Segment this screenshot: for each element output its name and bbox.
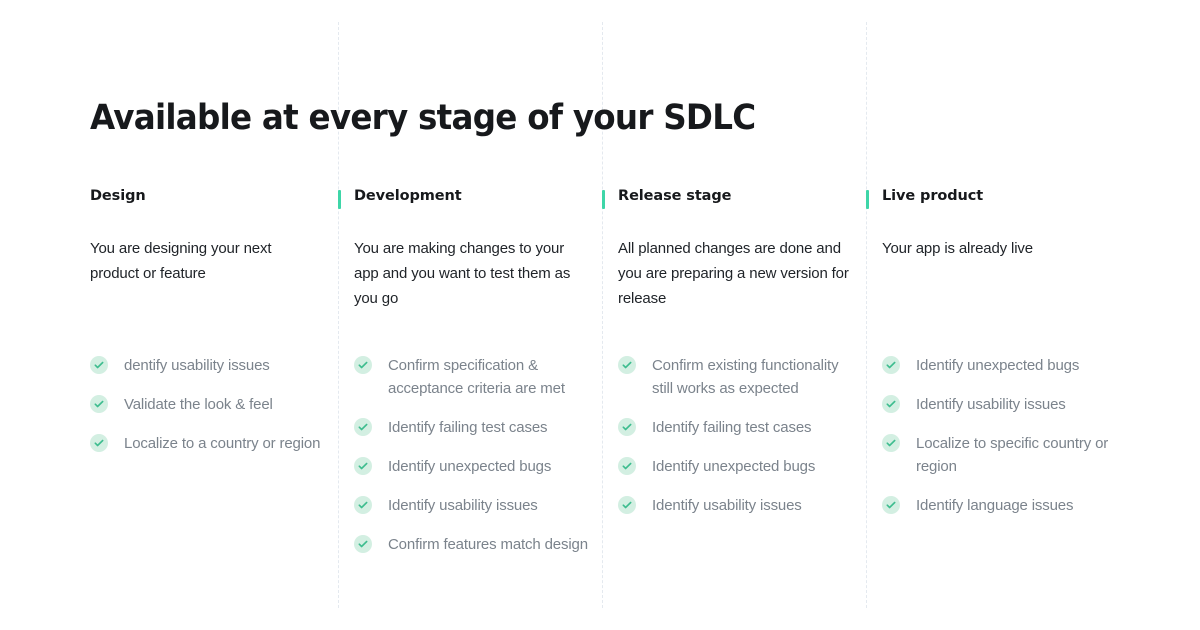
list-item-label: Identify usability issues bbox=[652, 497, 802, 514]
check-circle-icon bbox=[618, 356, 636, 374]
stage-column-live-product: Live product Your app is already live Id… bbox=[882, 186, 1118, 206]
stage-column-heading: Release stage bbox=[618, 186, 854, 206]
stage-column-heading: Development bbox=[354, 186, 590, 206]
stage-column-heading: Design bbox=[90, 186, 326, 206]
check-circle-icon bbox=[354, 457, 372, 475]
stage-column-description: You are making changes to your app and y… bbox=[354, 236, 586, 311]
list-item-label: dentify usability issues bbox=[124, 357, 270, 374]
list-item: Identify language issues bbox=[882, 494, 1118, 517]
list-item: Validate the look & feel bbox=[90, 393, 326, 416]
slide-canvas: Available at every stage of your SDLC De… bbox=[0, 0, 1200, 630]
column-accent-bar bbox=[866, 190, 869, 209]
list-item-label: Identify unexpected bugs bbox=[652, 458, 815, 475]
column-accent-bar bbox=[338, 190, 341, 209]
page-title: Available at every stage of your SDLC bbox=[90, 96, 755, 140]
list-item-label: Confirm specification & acceptance crite… bbox=[388, 357, 565, 397]
list-item-label: Identify failing test cases bbox=[652, 419, 811, 436]
list-item-label: Identify usability issues bbox=[916, 396, 1066, 413]
stage-column-release-stage: Release stage All planned changes are do… bbox=[618, 186, 854, 206]
list-item-label: Confirm existing functionality still wor… bbox=[652, 357, 838, 397]
check-circle-icon bbox=[354, 356, 372, 374]
list-item: Identify usability issues bbox=[618, 494, 854, 517]
stage-columns: Design You are designing your next produ… bbox=[0, 186, 1200, 616]
stage-checklist: Identify unexpected bugs Identify usabil… bbox=[882, 354, 1118, 517]
column-accent-bar bbox=[602, 190, 605, 209]
stage-column-development: Development You are making changes to yo… bbox=[354, 186, 590, 206]
list-item-label: Localize to a country or region bbox=[124, 435, 320, 452]
list-item-label: Confirm features match design bbox=[388, 536, 588, 553]
list-item-label: Identify unexpected bugs bbox=[916, 357, 1079, 374]
list-item-label: Validate the look & feel bbox=[124, 396, 273, 413]
stage-column-design: Design You are designing your next produ… bbox=[90, 186, 326, 206]
check-circle-icon bbox=[882, 434, 900, 452]
check-circle-icon bbox=[354, 496, 372, 514]
list-item: Identify usability issues bbox=[354, 494, 590, 517]
list-item-label: Identify failing test cases bbox=[388, 419, 547, 436]
check-circle-icon bbox=[618, 418, 636, 436]
list-item: Identify unexpected bugs bbox=[618, 455, 854, 478]
list-item: Identify unexpected bugs bbox=[354, 455, 590, 478]
check-circle-icon bbox=[90, 395, 108, 413]
list-item: Identify failing test cases bbox=[618, 416, 854, 439]
list-item: Identify failing test cases bbox=[354, 416, 590, 439]
list-item: Confirm existing functionality still wor… bbox=[618, 354, 854, 400]
list-item: Identify unexpected bugs bbox=[882, 354, 1118, 377]
list-item-label: Identify unexpected bugs bbox=[388, 458, 551, 475]
check-circle-icon bbox=[354, 535, 372, 553]
list-item: Confirm features match design bbox=[354, 533, 590, 556]
list-item: Confirm specification & acceptance crite… bbox=[354, 354, 590, 400]
list-item-label: Identify usability issues bbox=[388, 497, 538, 514]
check-circle-icon bbox=[618, 457, 636, 475]
list-item-label: Localize to specific country or region bbox=[916, 435, 1108, 475]
list-item: Localize to a country or region bbox=[90, 432, 326, 455]
list-item: dentify usability issues bbox=[90, 354, 326, 377]
stage-column-heading: Live product bbox=[882, 186, 1118, 206]
list-item: Localize to specific country or region bbox=[882, 432, 1118, 478]
stage-checklist: Confirm specification & acceptance crite… bbox=[354, 354, 590, 556]
check-circle-icon bbox=[90, 356, 108, 374]
stage-column-description: All planned changes are done and you are… bbox=[618, 236, 850, 311]
list-item-label: Identify language issues bbox=[916, 497, 1073, 514]
check-circle-icon bbox=[882, 496, 900, 514]
check-circle-icon bbox=[354, 418, 372, 436]
check-circle-icon bbox=[618, 496, 636, 514]
check-circle-icon bbox=[90, 434, 108, 452]
check-circle-icon bbox=[882, 395, 900, 413]
check-circle-icon bbox=[882, 356, 900, 374]
stage-column-description: You are designing your next product or f… bbox=[90, 236, 322, 286]
list-item: Identify usability issues bbox=[882, 393, 1118, 416]
stage-column-description: Your app is already live bbox=[882, 236, 1114, 261]
stage-checklist: Confirm existing functionality still wor… bbox=[618, 354, 854, 517]
stage-checklist: dentify usability issues Validate the lo… bbox=[90, 354, 326, 455]
